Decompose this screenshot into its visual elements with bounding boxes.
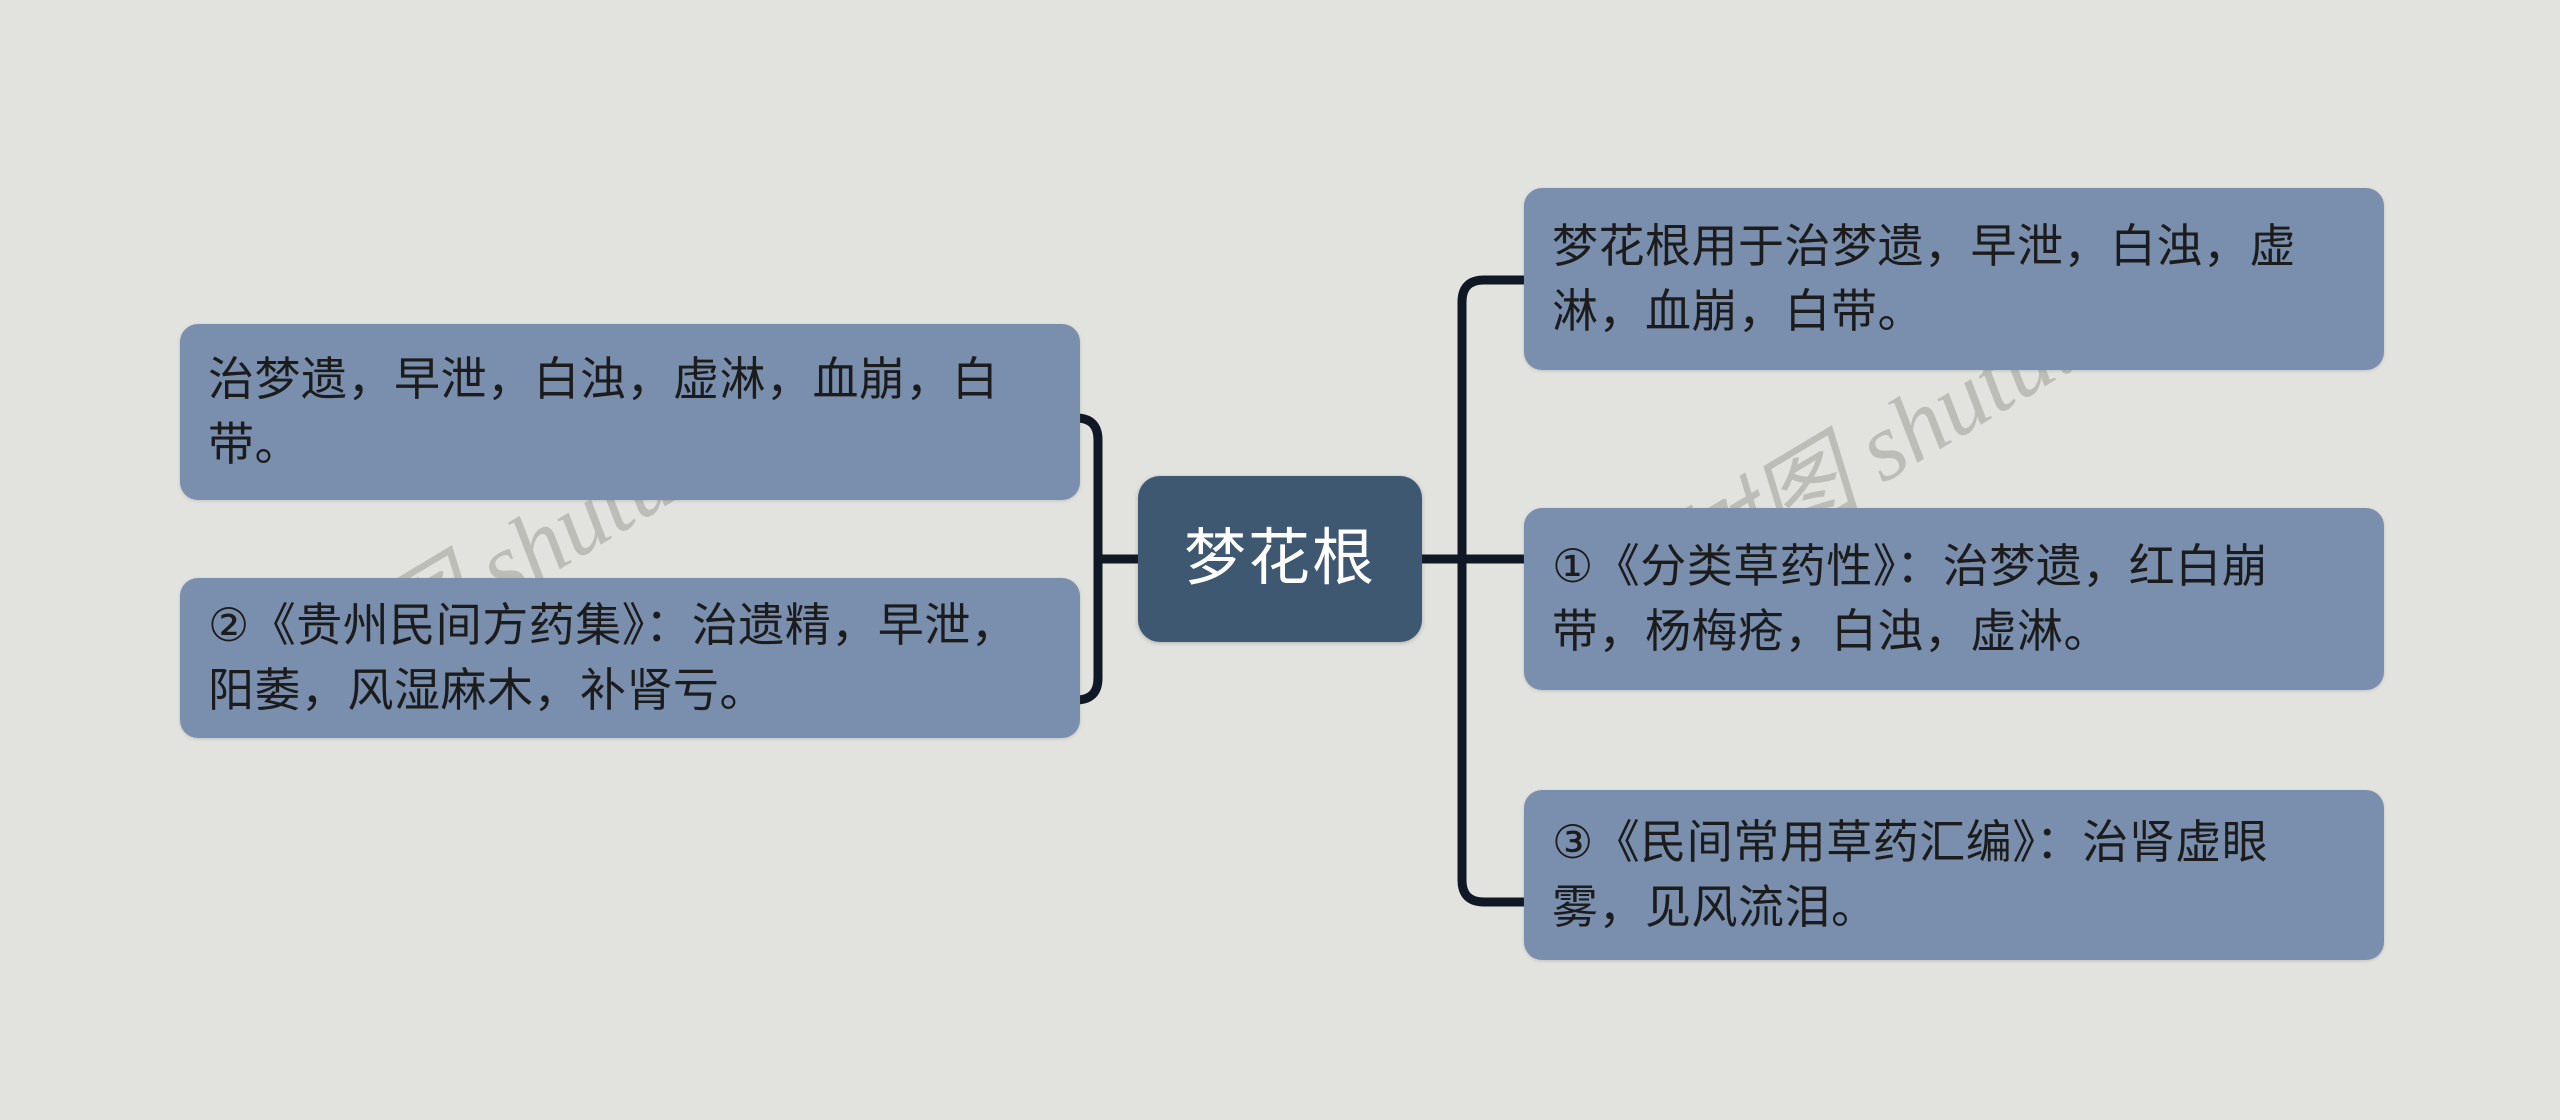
node-left-1-label: 治梦遗，早泄，白浊，虚淋，血崩，白带。 xyxy=(208,347,1054,478)
mindmap-node-right-1[interactable]: 梦花根用于治梦遗，早泄，白浊，虚淋，血崩，白带。 xyxy=(1524,188,2384,370)
node-right-3-label: ③《民间常用草药汇编》：治肾虚眼雾，见风流泪。 xyxy=(1552,810,2358,941)
mindmap-node-right-3[interactable]: ③《民间常用草药汇编》：治肾虚眼雾，见风流泪。 xyxy=(1524,790,2384,960)
mindmap-node-left-2[interactable]: ②《贵州民间方药集》：治遗精，早泄，阳萎，风湿麻木，补肾亏。 xyxy=(180,578,1080,738)
node-right-2-label: ①《分类草药性》：治梦遗，红白崩带，杨梅疮，白浊，虚淋。 xyxy=(1552,534,2358,665)
connector-right-1 xyxy=(1462,280,1524,302)
root-node-label: 梦花根 xyxy=(1184,522,1376,596)
node-right-1-label: 梦花根用于治梦遗，早泄，白浊，虚淋，血崩，白带。 xyxy=(1552,214,2358,345)
mindmap-node-left-1[interactable]: 治梦遗，早泄，白浊，虚淋，血崩，白带。 xyxy=(180,324,1080,500)
node-left-2-label: ②《贵州民间方药集》：治遗精，早泄，阳萎，风湿麻木，补肾亏。 xyxy=(208,593,1054,724)
mindmap-node-right-2[interactable]: ①《分类草药性》：治梦遗，红白崩带，杨梅疮，白浊，虚淋。 xyxy=(1524,508,2384,690)
connector-right-3 xyxy=(1462,880,1524,902)
mindmap-root-node[interactable]: 梦花根 xyxy=(1138,476,1422,642)
mindmap-canvas: 树图 shutu.cn 树图 shutu.cn 治梦遗，早泄，白浊，虚淋，血崩， xyxy=(0,0,2560,1120)
